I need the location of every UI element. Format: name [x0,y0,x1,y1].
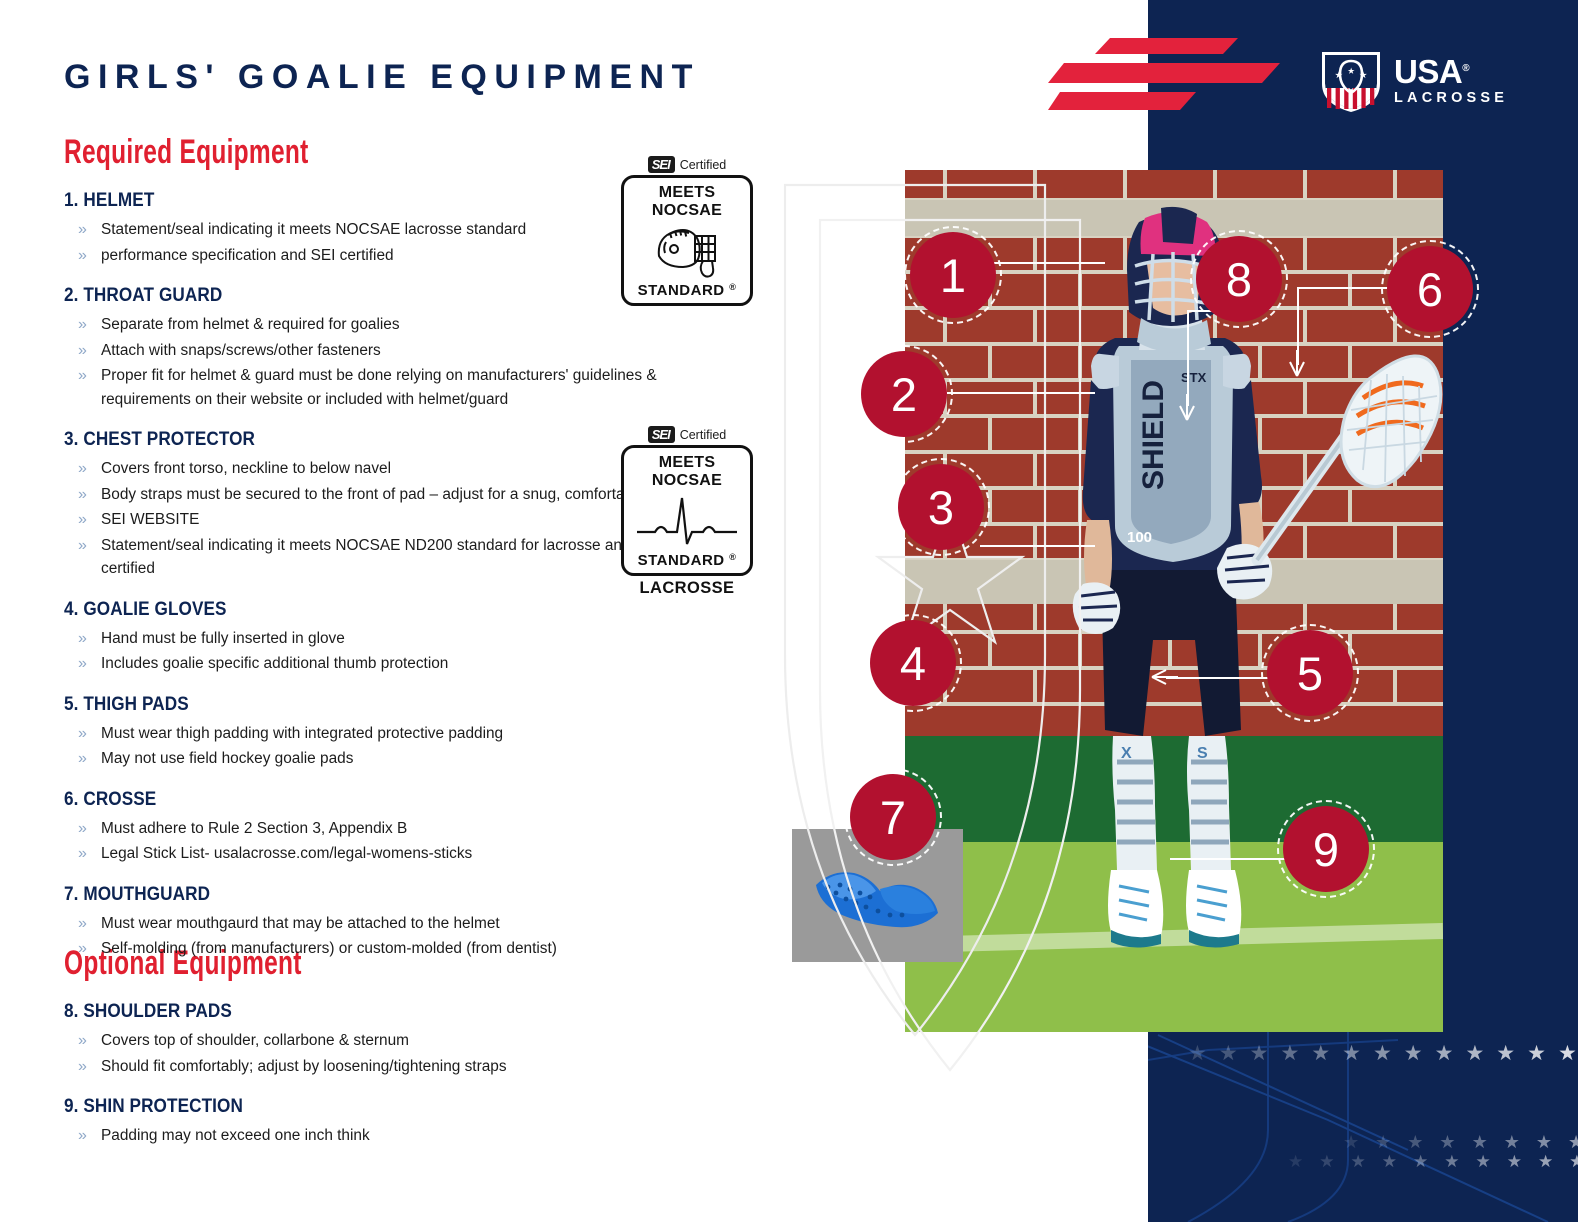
chevron-bullet-icon: » [78,912,87,936]
equipment-item-title: 5. THIGH PADS [64,693,627,716]
equipment-bullet-text: Statement/seal indicating it meets NOCSA… [101,221,526,238]
decorative-star-icon: ★ [1375,1133,1391,1151]
seal-nocsae-label: NOCSAE [624,472,750,490]
chevron-bullet-icon: » [78,508,87,532]
decorative-star-icon: ★ [1476,1153,1491,1170]
equipment-bullet: »Must adhere to Rule 2 Section 3, Append… [64,817,704,841]
equipment-bullet: »Self-molding (from manufacturers) or cu… [64,937,704,961]
equipment-item-title: 9. SHIN PROTECTION [64,1095,627,1118]
chevron-bullet-icon: » [78,1055,87,1079]
equipment-bullet: »Statement/seal indicating it meets NOCS… [64,534,704,581]
decorative-star-icon: ★ [1404,1043,1423,1064]
chevron-bullet-icon: » [78,313,87,337]
chevron-bullet-icon: » [78,218,87,242]
equipment-bullet-text: Self-molding (from manufacturers) or cus… [101,940,557,957]
equipment-bullet-text: Must wear mouthgaurd that may be attache… [101,915,500,932]
chevron-bullet-icon: » [78,534,87,558]
decorative-star-icon: ★ [1536,1133,1552,1151]
equipment-bullet: »Must wear thigh padding with integrated… [64,722,704,746]
equipment-bullet-text: Proper fit for helmet & guard must be do… [101,367,657,408]
equipment-bullet-text: Legal Stick List- usalacrosse.com/legal-… [101,845,472,862]
decorative-star-icon: ★ [1527,1043,1546,1064]
callout-marker-2: 2 [861,351,947,437]
equipment-item-title: 1. HELMET [64,189,627,212]
equipment-bullet-text: Hand must be fully inserted in glove [101,630,345,647]
equipment-item-2: 2. THROAT GUARD»Separate from helmet & r… [64,284,704,411]
equipment-item-8: 8. SHOULDER PADS»Covers top of shoulder,… [64,1000,704,1078]
equipment-bullet: »Hand must be fully inserted in glove [64,627,704,651]
seal-standard-label: STANDARD [638,282,725,299]
decorative-star-icon: ★ [1444,1153,1459,1170]
equipment-bullet: »Padding may not exceed one inch think [64,1124,704,1148]
nocsae-lacrosse-seal: SEI Certified MEETS NOCSAE STANDARD ® LA… [612,425,762,600]
ekg-waveform-icon [624,490,750,552]
callout-marker-4: 4 [870,620,956,706]
equipment-bullet-list: »Must wear thigh padding with integrated… [64,722,704,771]
callout-marker-9: 9 [1283,806,1369,892]
equipment-bullet-text: SEI WEBSITE [101,511,199,528]
optional-equipment-list: 8. SHOULDER PADS»Covers top of shoulder,… [64,1000,704,1150]
equipment-bullet-list: »Covers front torso, neckline to below n… [64,457,704,581]
decorative-star-icon: ★ [1435,1043,1454,1064]
leader-line-6 [1297,287,1393,289]
equipment-bullet: »Legal Stick List- usalacrosse.com/legal… [64,842,704,866]
seal-registered-mark: ® [729,282,736,292]
equipment-bullet-text: May not use field hockey goalie pads [101,750,353,767]
decorative-star-icon: ★ [1568,1133,1578,1151]
equipment-item-title: 3. CHEST PROTECTOR [64,428,627,451]
equipment-bullet-list: »Padding may not exceed one inch think [64,1124,704,1148]
leader-line-9 [1170,858,1288,860]
decorative-star-icon: ★ [1311,1043,1330,1064]
decorative-star-icon: ★ [1496,1043,1515,1064]
equipment-bullet-text: Separate from helmet & required for goal… [101,316,400,333]
equipment-bullet: »Must wear mouthgaurd that may be attach… [64,912,704,936]
equipment-item-9: 9. SHIN PROTECTION»Padding may not excee… [64,1095,704,1148]
decorative-star-icon: ★ [1413,1153,1428,1170]
decorative-star-icon: ★ [1439,1133,1455,1151]
seal-standard-label: STANDARD [638,552,725,569]
equipment-bullet-text: Covers top of shoulder, collarbone & ste… [101,1032,409,1049]
decorative-star-icon: ★ [1288,1153,1303,1170]
decorative-star-icon: ★ [1569,1153,1578,1170]
star-row-3: ★★★★★★★★★★★ [1288,1153,1578,1170]
helmet-icon [624,220,750,282]
equipment-bullet-text: Padding may not exceed one inch think [101,1127,370,1144]
decorative-star-icon: ★ [1219,1043,1238,1064]
chevron-bullet-icon: » [78,1124,87,1148]
decorative-star-icon: ★ [1343,1133,1359,1151]
leader-arrow-6 [1286,348,1310,378]
chevron-bullet-icon: » [78,339,87,363]
decorative-star-icon: ★ [1558,1043,1577,1064]
red-stripes-graphic [1048,34,1298,112]
chevron-bullet-icon: » [78,364,87,388]
equipment-bullet-text: Must adhere to Rule 2 Section 3, Appendi… [101,820,407,837]
equipment-bullet: »Covers top of shoulder, collarbone & st… [64,1029,704,1053]
decorative-star-icon: ★ [1250,1043,1269,1064]
star-row-2: ★★★★★★★★★★ [1343,1133,1578,1151]
chevron-bullet-icon: » [78,244,87,268]
page-root: ★★★★★★★★★★★★★★ ★★★★★★★★★★ ★★★★★★★★★★★ GI… [0,0,1578,1222]
equipment-bullet-list: »Must adhere to Rule 2 Section 3, Append… [64,817,704,866]
page-title: GIRLS' GOALIE EQUIPMENT [64,58,700,97]
seal-registered-mark: ® [729,552,736,562]
nocsae-helmet-seal: SEI Certified MEETS NOCSAE STANDARD ® [612,155,762,307]
required-equipment-list: 1. HELMET»Statement/seal indicating it m… [64,189,704,963]
equipment-bullet-list: »Statement/seal indicating it meets NOCS… [64,218,704,267]
equipment-bullet-list: »Hand must be fully inserted in glove»In… [64,627,704,676]
callout-marker-7: 7 [850,774,936,860]
decorative-star-icon: ★ [1507,1153,1522,1170]
equipment-item-title: 2. THROAT GUARD [64,284,627,307]
chevron-bullet-icon: » [78,483,87,507]
chevron-bullet-icon: » [78,937,87,961]
equipment-bullet: »Body straps must be secured to the fron… [64,483,704,507]
seal-meets-label: MEETS [624,184,750,202]
decorative-star-icon: ★ [1465,1043,1484,1064]
chevron-bullet-icon: » [78,722,87,746]
equipment-item-7: 7. MOUTHGUARD»Must wear mouthgaurd that … [64,883,704,961]
callout-marker-3: 3 [898,464,984,550]
usa-lacrosse-wordmark: USA® LACROSSE [1394,52,1508,107]
equipment-bullet-list: »Separate from helmet & required for goa… [64,313,704,411]
leader-line-1 [985,262,1105,264]
equipment-bullet-text: Includes goalie specific additional thum… [101,655,448,672]
equipment-bullet-text: Body straps must be secured to the front… [101,486,661,503]
equipment-bullet-text: Must wear thigh padding with integrated … [101,725,503,742]
equipment-bullet-text: performance specification and SEI certif… [101,247,394,264]
chevron-bullet-icon: » [78,457,87,481]
equipment-item-title: 6. CROSSE [64,788,627,811]
callout-marker-8: 8 [1196,236,1282,322]
logo-lacrosse-text: LACROSSE [1394,90,1508,107]
decorative-star-icon: ★ [1188,1043,1207,1064]
equipment-item-title: 7. MOUTHGUARD [64,883,627,906]
svg-text:STX: STX [1181,370,1207,385]
seal-meets-label: MEETS [624,454,750,472]
logo-usa-text: USA [1394,53,1462,90]
usa-lacrosse-logo: USA® LACROSSE [1318,48,1503,114]
seal-nocsae-label: NOCSAE [624,202,750,220]
leader-arrow-5 [1150,666,1180,690]
decorative-star-icon: ★ [1504,1133,1520,1151]
chevron-bullet-icon: » [78,627,87,651]
equipment-bullet: »May not use field hockey goalie pads [64,747,704,771]
equipment-bullet: »Includes goalie specific additional thu… [64,652,704,676]
sei-certified-label: Certified [680,158,727,172]
equipment-bullet-text: Should fit comfortably; adjust by loosen… [101,1058,507,1075]
equipment-item-1: 1. HELMET»Statement/seal indicating it m… [64,189,704,267]
decorative-star-icon: ★ [1407,1133,1423,1151]
star-row-1: ★★★★★★★★★★★★★★ [1188,1043,1578,1064]
equipment-bullet-list: »Covers top of shoulder, collarbone & st… [64,1029,704,1078]
sei-certified-label: Certified [680,428,727,442]
equipment-bullet: »Covers front torso, neckline to below n… [64,457,704,481]
decorative-star-icon: ★ [1319,1153,1334,1170]
equipment-item-5: 5. THIGH PADS»Must wear thigh padding wi… [64,693,704,771]
decorative-star-icon: ★ [1472,1133,1488,1151]
decorative-star-icon: ★ [1280,1043,1299,1064]
sei-logo-icon: SEI [648,426,675,443]
equipment-bullet: »Attach with snaps/screws/other fastener… [64,339,704,363]
equipment-bullet: »Separate from helmet & required for goa… [64,313,704,337]
decorative-star-icon: ★ [1382,1153,1397,1170]
leader-line-2 [940,392,1095,394]
required-equipment-heading: Required Equipment [64,133,309,172]
equipment-bullet: »Should fit comfortably; adjust by loose… [64,1055,704,1079]
usa-lacrosse-shield-icon [1318,48,1384,114]
equipment-item-title: 8. SHOULDER PADS [64,1000,627,1023]
equipment-item-3: 3. CHEST PROTECTOR»Covers front torso, n… [64,428,704,581]
equipment-bullet-text: Covers front torso, neckline to below na… [101,460,391,477]
chevron-bullet-icon: » [78,652,87,676]
svg-text:S: S [1197,745,1208,762]
equipment-bullet: »Proper fit for helmet & guard must be d… [64,364,704,411]
leader-line-3 [980,545,1095,547]
equipment-item-4: 4. GOALIE GLOVES»Hand must be fully inse… [64,598,704,676]
chevron-bullet-icon: » [78,817,87,841]
decorative-star-icon: ★ [1373,1043,1392,1064]
equipment-item-6: 6. CROSSE»Must adhere to Rule 2 Section … [64,788,704,866]
decorative-star-icon: ★ [1351,1153,1366,1170]
chevron-bullet-icon: » [78,1029,87,1053]
equipment-bullet-list: »Must wear mouthgaurd that may be attach… [64,912,704,961]
decorative-star-icon: ★ [1538,1153,1553,1170]
sei-logo-icon: SEI [648,156,675,173]
equipment-bullet-text: Attach with snaps/screws/other fasteners [101,342,381,359]
equipment-bullet: »Statement/seal indicating it meets NOCS… [64,218,704,242]
decorative-star-icon: ★ [1342,1043,1361,1064]
equipment-bullet-text: Statement/seal indicating it meets NOCSA… [101,537,660,578]
leader-arrow-8 [1176,392,1200,422]
chevron-bullet-icon: » [78,842,87,866]
logo-registered-mark: ® [1462,63,1469,74]
chevron-bullet-icon: » [78,747,87,771]
seal-lacrosse-sublabel: LACROSSE [612,579,762,598]
equipment-item-title: 4. GOALIE GLOVES [64,598,627,621]
callout-marker-6: 6 [1387,246,1473,332]
callout-marker-5: 5 [1267,630,1353,716]
callout-marker-1: 1 [910,232,996,318]
leader-line-5 [1166,677,1274,679]
equipment-bullet: »SEI WEBSITE [64,508,704,532]
equipment-bullet: »performance specification and SEI certi… [64,244,704,268]
